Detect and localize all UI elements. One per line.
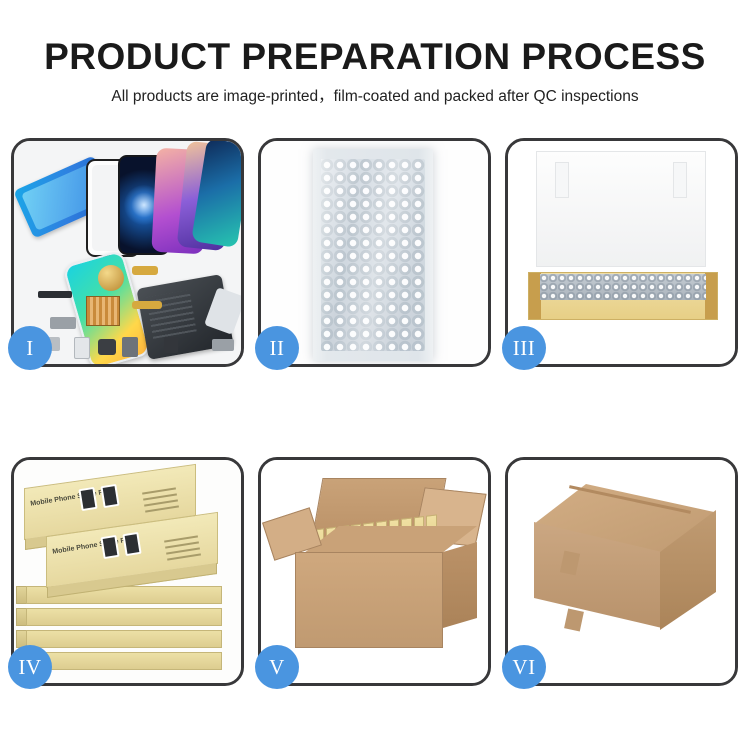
step-panel-2: II — [258, 138, 491, 367]
step-image-3 — [508, 141, 735, 364]
step-badge-4: IV — [8, 645, 52, 689]
page-subtitle: All products are image-printed，film-coat… — [0, 89, 750, 105]
step-badge-6: VI — [502, 645, 546, 689]
box-stack-layer — [26, 652, 222, 670]
step-image-6 — [508, 460, 735, 683]
step-panel-6: VI — [505, 457, 738, 686]
mailer-lid-tab-left — [555, 162, 569, 198]
copper-coil-part — [98, 265, 124, 291]
bubble-wrap-sheen — [321, 159, 425, 351]
step-image-1 — [14, 141, 241, 364]
step-badge-5: V — [255, 645, 299, 689]
camera-module-part — [98, 339, 116, 355]
carton-front-face — [295, 552, 443, 648]
step-panel-4: Mobile Phone Spare Parts Mobile Phone Sp… — [11, 457, 244, 686]
box-stack-layer — [26, 608, 222, 626]
mailer-box-contents — [540, 274, 706, 300]
step-badge-3: III — [502, 326, 546, 370]
page-title: PRODUCT PREPARATION PROCESS — [0, 38, 750, 75]
product-preparation-page: PRODUCT PREPARATION PROCESS All products… — [0, 0, 750, 750]
page-header: PRODUCT PREPARATION PROCESS All products… — [0, 0, 750, 105]
speaker-part — [122, 337, 138, 357]
gold-flex-part — [132, 301, 162, 309]
sim-tray-part — [74, 337, 90, 359]
carton-tape-lower — [564, 609, 584, 632]
step-image-4: Mobile Phone Spare Parts Mobile Phone Sp… — [14, 460, 241, 683]
button-part — [164, 337, 178, 353]
box-artwork-phone — [100, 484, 119, 508]
flex-cable-part — [38, 291, 72, 298]
step-image-2 — [261, 141, 488, 364]
step-image-5 — [261, 460, 488, 683]
carton-side-face — [443, 542, 477, 628]
process-steps-grid: I II III — [11, 138, 739, 738]
mailer-box-lid — [536, 151, 706, 267]
mailer-lid-tab-right — [673, 162, 687, 198]
step-badge-2: II — [255, 326, 299, 370]
box-artwork-phone — [100, 535, 119, 559]
retail-box-stack: Mobile Phone Spare Parts Mobile Phone Sp… — [18, 474, 240, 674]
box-artwork-phone — [78, 487, 97, 511]
gold-contact-part — [132, 266, 158, 275]
connector-chip-part — [86, 296, 120, 326]
step-panel-5: V — [258, 457, 491, 686]
step-panel-1: I — [11, 138, 244, 367]
screw-set-part — [212, 339, 234, 351]
step-panel-3: III — [505, 138, 738, 367]
metal-bracket-part — [50, 317, 76, 329]
box-artwork-phone — [122, 532, 141, 556]
step-badge-1: I — [8, 326, 52, 370]
bubble-wrap-package — [313, 149, 433, 361]
box-stack-layer — [26, 630, 222, 648]
